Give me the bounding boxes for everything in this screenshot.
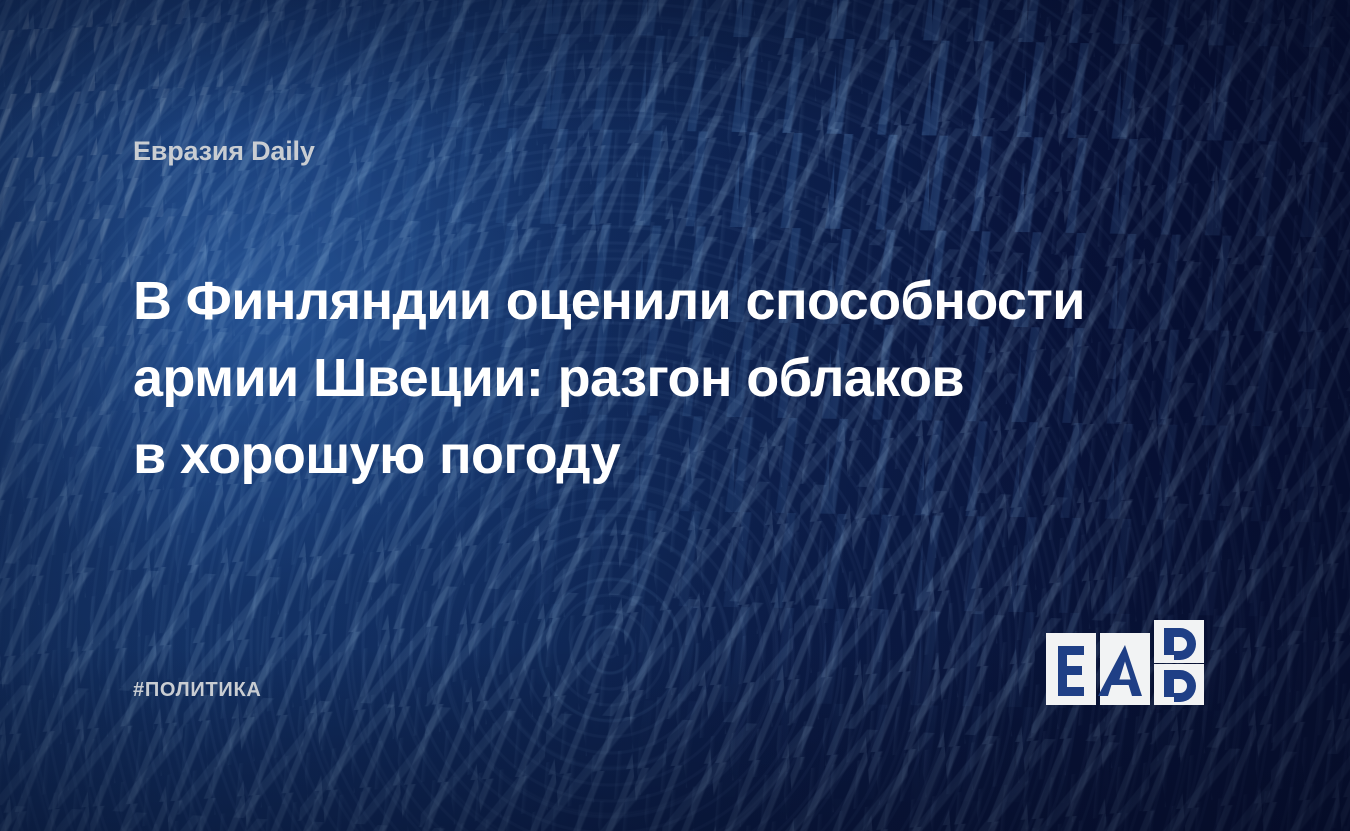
headline-line-1: В Финляндии оценили способности	[133, 263, 1133, 340]
category-hashtag[interactable]: #ПОЛИТИКА	[133, 679, 262, 702]
cover-content: Евразия Daily В Финляндии оценили способ…	[0, 0, 1350, 831]
headline-line-2: армии Швеции: разгон облаков	[133, 340, 1133, 417]
headline-line-3: в хорошую погоду	[133, 417, 1133, 494]
headline: В Финляндии оценили способности армии Шв…	[133, 263, 1133, 494]
eadaily-logo-icon	[1046, 620, 1220, 706]
article-cover-card: Евразия Daily В Финляндии оценили способ…	[0, 0, 1350, 831]
brand-name: Евразия Daily	[133, 136, 315, 167]
eadaily-logo[interactable]	[1046, 620, 1220, 706]
